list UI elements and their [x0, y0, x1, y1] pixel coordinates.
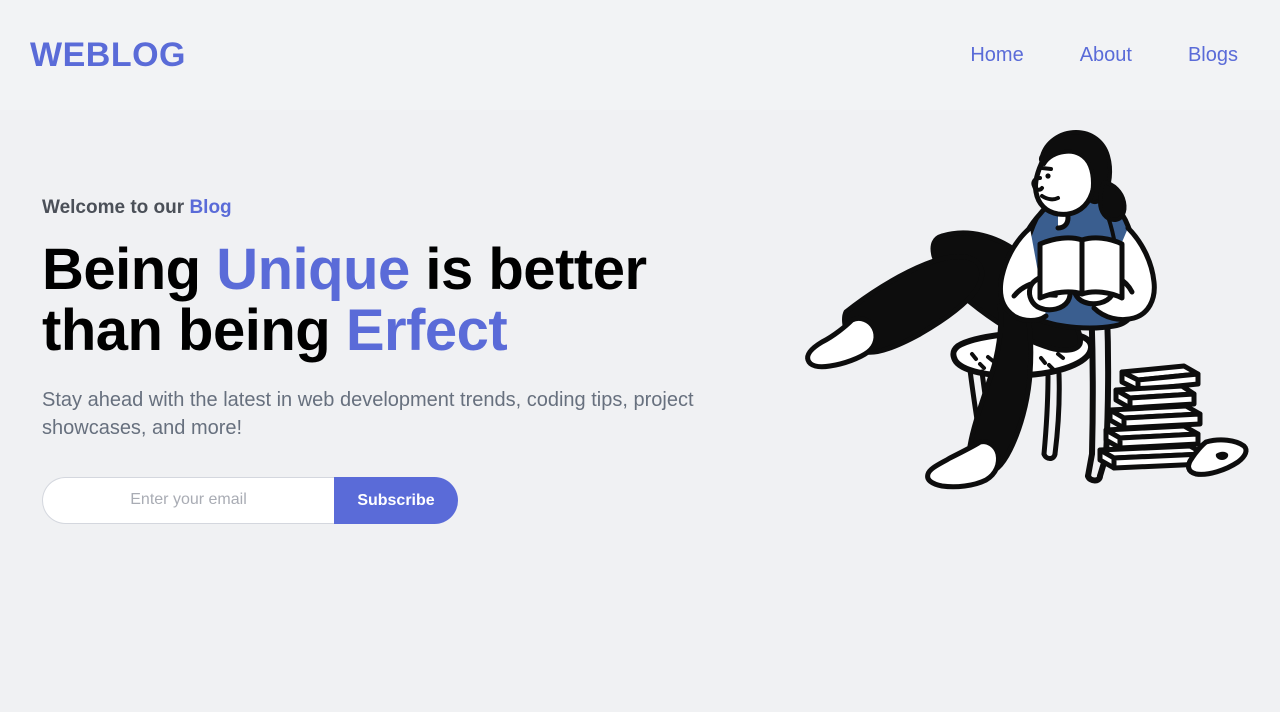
arms-illustration — [1001, 228, 1155, 321]
hero-section: Welcome to our Blog Being Unique is bett… — [0, 110, 1280, 712]
main-navigation: Home About Blogs — [970, 45, 1248, 65]
nav-link-about[interactable]: About — [1080, 45, 1132, 65]
head-face-illustration — [1033, 142, 1094, 215]
floor-book-illustration — [1189, 440, 1246, 474]
hero-headline: Being Unique is better than being Erfect — [42, 239, 702, 362]
nav-link-blogs[interactable]: Blogs — [1188, 45, 1238, 65]
hero-eyebrow-prefix: Welcome to our — [42, 197, 189, 218]
hero-eyebrow: Welcome to our Blog — [42, 198, 742, 217]
email-input[interactable] — [42, 477, 334, 524]
hero-copy: Welcome to our Blog Being Unique is bett… — [42, 198, 742, 524]
chair-legs-illustration — [970, 370, 1059, 472]
open-book-illustration — [1040, 238, 1122, 298]
hero-eyebrow-accent: Blog — [189, 197, 231, 218]
hero-illustration — [792, 124, 1252, 504]
landing-page: WEBLOG Home About Blogs Welcome to our B… — [0, 0, 1280, 712]
nav-link-home[interactable]: Home — [970, 45, 1023, 65]
brand-logo[interactable]: WEBLOG — [30, 38, 186, 72]
headline-accent-unique: Unique — [216, 237, 410, 302]
neck-illustration — [1058, 186, 1068, 228]
site-header: WEBLOG Home About Blogs — [0, 0, 1280, 110]
subscribe-form: Subscribe — [42, 477, 458, 524]
stack-of-books-illustration — [1100, 366, 1204, 468]
subscribe-button[interactable]: Subscribe — [334, 477, 458, 524]
chair-seat-illustration — [953, 332, 1091, 375]
hero-subcopy: Stay ahead with the latest in web develo… — [42, 386, 710, 443]
hair-illustration — [1041, 132, 1125, 220]
headline-accent-erfect: Erfect — [346, 298, 507, 363]
headline-part-1: Being — [42, 237, 216, 302]
legs-illustration — [845, 233, 1081, 472]
chair-back-illustration — [1088, 244, 1108, 481]
torso-shirt-illustration — [1014, 193, 1139, 328]
feet-illustration — [808, 318, 999, 486]
hands-illustration — [1029, 270, 1114, 310]
